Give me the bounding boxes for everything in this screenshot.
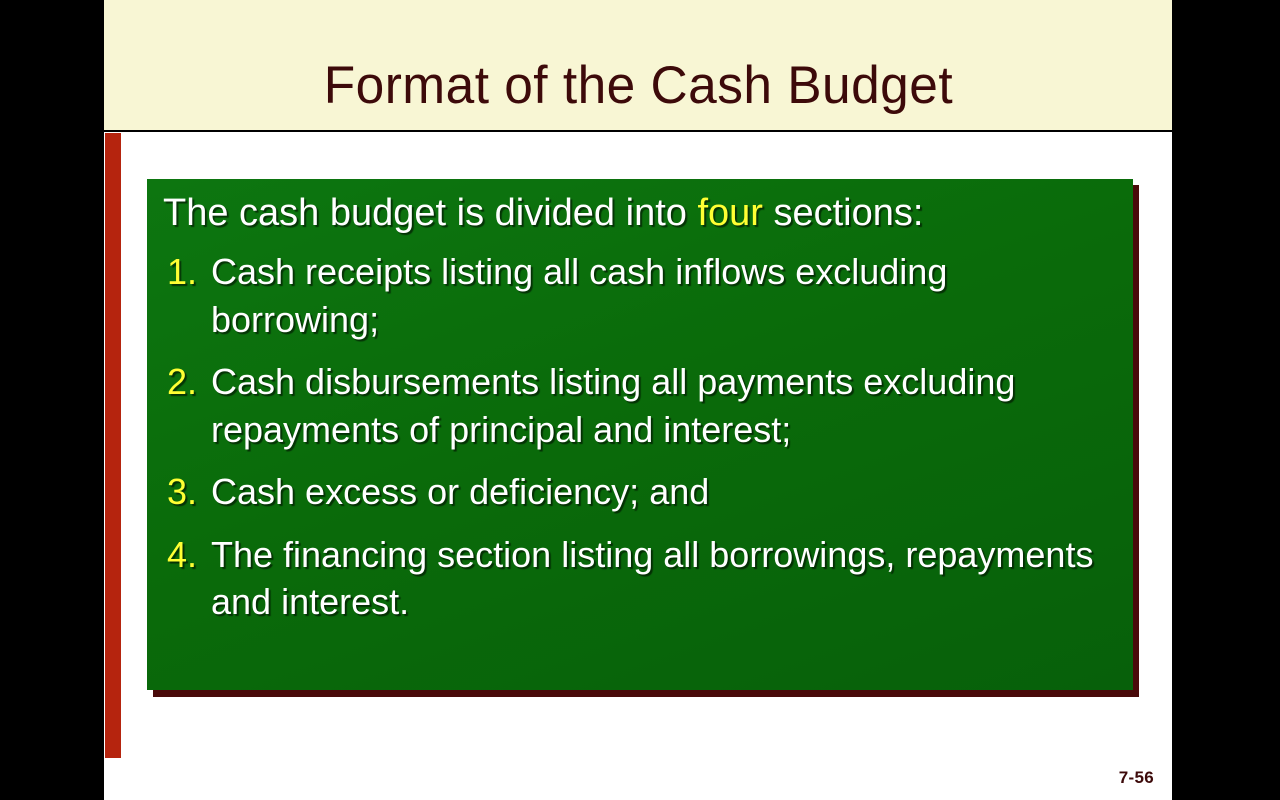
sections-list: 1. Cash receipts listing all cash inflow… <box>159 248 1113 626</box>
list-item-number: 3. <box>159 468 211 516</box>
lead-statement: The cash budget is divided into four sec… <box>159 193 1113 234</box>
list-item-number: 1. <box>159 248 211 296</box>
lead-statement-before: The cash budget is divided into <box>163 192 697 234</box>
lead-statement-highlight: four <box>697 192 762 234</box>
left-accent-bar <box>105 133 121 758</box>
list-item: 2. Cash disbursements listing all paymen… <box>159 358 1113 453</box>
content-panel: The cash budget is divided into four sec… <box>147 179 1140 697</box>
list-item-number: 2. <box>159 358 211 406</box>
content-panel-body: The cash budget is divided into four sec… <box>147 179 1133 690</box>
list-item-text: The financing section listing all borrow… <box>211 531 1113 626</box>
list-item: 3. Cash excess or deficiency; and <box>159 468 1113 516</box>
lead-statement-after: sections: <box>763 192 924 234</box>
slide-root: Format of the Cash Budget The cash budge… <box>0 0 1280 800</box>
slide-title-band: Format of the Cash Budget <box>104 0 1172 132</box>
list-item-number: 4. <box>159 531 211 579</box>
list-item-text: Cash receipts listing all cash inflows e… <box>211 248 1113 343</box>
list-item-text: Cash excess or deficiency; and <box>211 468 1113 516</box>
slide-canvas: Format of the Cash Budget The cash budge… <box>104 0 1172 800</box>
list-item-text: Cash disbursements listing all payments … <box>211 358 1113 453</box>
list-item: 4. The financing section listing all bor… <box>159 531 1113 626</box>
list-item: 1. Cash receipts listing all cash inflow… <box>159 248 1113 343</box>
page-number: 7-56 <box>1119 768 1154 788</box>
page-title: Format of the Cash Budget <box>323 59 952 130</box>
